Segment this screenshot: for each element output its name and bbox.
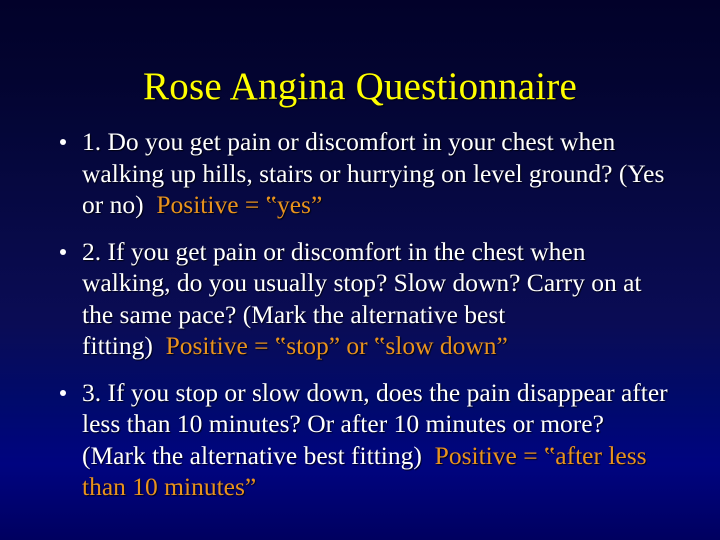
bullet-positive-1: Positive = ‟yes” <box>156 190 322 219</box>
bullet-item-2: 2. If you get pain or discomfort in the … <box>56 236 672 362</box>
bullet-list: 1. Do you get pain or discomfort in your… <box>56 126 672 503</box>
bullet-dot-icon <box>60 139 66 145</box>
bullet-dot-icon <box>60 390 66 396</box>
bullet-positive-2: Positive = ‟stop” or ‟slow down” <box>166 331 508 360</box>
bullet-text-1: 1. Do you get pain or discomfort in your… <box>82 126 672 221</box>
slide-title: Rose Angina Questionnaire <box>0 64 720 110</box>
bullet-item-1: 1. Do you get pain or discomfort in your… <box>56 126 672 221</box>
presentation-slide: Rose Angina Questionnaire 1. Do you get … <box>0 0 720 540</box>
bullet-dot-icon <box>60 249 66 255</box>
bullet-item-3: 3. If you stop or slow down, does the pa… <box>56 377 672 503</box>
bullet-text-3: 3. If you stop or slow down, does the pa… <box>82 377 672 503</box>
bullet-text-2: 2. If you get pain or discomfort in the … <box>82 236 672 362</box>
